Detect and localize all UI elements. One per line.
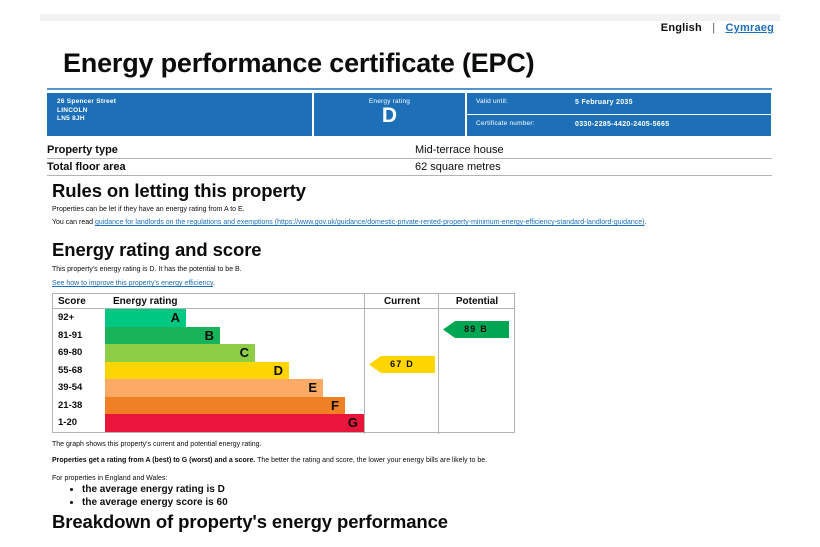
property-type-label: Property type (47, 144, 118, 156)
band-bar: F (105, 397, 345, 415)
rating-band-g: 1-20G (53, 414, 364, 432)
table-row: Property type Mid-terrace house (47, 142, 772, 159)
language-welsh-link[interactable]: Cymraeg (726, 22, 774, 34)
average-stats-list: the average energy rating is Dthe averag… (68, 483, 228, 509)
band-bar: D (105, 362, 289, 380)
rating-band-a: 92+A (53, 309, 364, 327)
epc-rating-chart: Score Energy rating Current Potential 92… (52, 293, 515, 433)
graph-description: The graph shows this property's current … (52, 440, 262, 450)
rating-band-d: 55-68D (53, 362, 364, 380)
address-line-2: LINCOLN (57, 107, 312, 116)
energy-rating-value: D (314, 105, 465, 127)
band-score-range: 39-54 (53, 379, 105, 397)
potential-rating-arrow: 89 B (443, 321, 509, 338)
valid-until-row: Valid until: 5 February 2035 (467, 93, 771, 114)
title-divider (47, 88, 772, 90)
certificate-number-value: 0330-2285-4420-2405-5665 (575, 121, 669, 128)
improve-efficiency-paragraph: See how to improve this property's energ… (52, 279, 215, 289)
current-rating-arrow: 67 D (369, 356, 435, 373)
language-switcher: English | Cymraeg (661, 22, 774, 34)
band-bar: C (105, 344, 255, 362)
improve-suffix: . (213, 280, 215, 287)
language-separator: | (705, 22, 722, 34)
band-score-range: 92+ (53, 309, 105, 327)
column-header-current: Current (366, 296, 438, 307)
certificate-meta: Valid until: 5 February 2035 Certificate… (467, 93, 771, 136)
energy-rating-paragraph: This property's energy rating is D. It h… (52, 265, 242, 275)
rules-guidance-paragraph: You can read guidance for landlords on t… (52, 218, 774, 228)
rules-heading: Rules on letting this property (52, 180, 306, 202)
rating-explanation-bold: Properties get a rating from A (best) to… (52, 457, 255, 464)
chart-column-divider (438, 294, 439, 434)
table-row: Total floor area 62 square metres (47, 159, 772, 176)
energy-rating-heading: Energy rating and score (52, 239, 261, 261)
rating-band-f: 21-38F (53, 397, 364, 415)
property-type-value: Mid-terrace house (415, 144, 504, 156)
certificate-number-label: Certificate number: (476, 120, 566, 128)
rating-explanation: Properties get a rating from A (best) to… (52, 456, 782, 466)
address-line-1: 26 Spencer Street (57, 98, 312, 107)
column-header-energy-rating: Energy rating (113, 296, 177, 307)
band-bar: A (105, 309, 186, 327)
band-bar: G (105, 414, 364, 432)
improve-efficiency-link[interactable]: See how to improve this property's energ… (52, 280, 213, 287)
list-item: the average energy score is 60 (82, 496, 228, 509)
certificate-summary-banner: 26 Spencer Street LINCOLN LN5 8JH Energy… (47, 93, 771, 136)
property-address: 26 Spencer Street LINCOLN LN5 8JH (47, 93, 312, 136)
chart-header: Score Energy rating Current Potential (53, 294, 514, 309)
property-facts-table: Property type Mid-terrace house Total fl… (47, 142, 772, 176)
top-grey-bar (40, 14, 780, 21)
landlord-guidance-link[interactable]: guidance for landlords on the regulation… (95, 219, 645, 226)
band-bar: B (105, 327, 220, 345)
band-bar: E (105, 379, 323, 397)
address-line-3: LN5 8JH (57, 115, 312, 124)
total-floor-area-label: Total floor area (47, 161, 126, 173)
epc-page: English | Cymraeg Energy performance cer… (0, 0, 820, 547)
valid-until-value: 5 February 2035 (575, 99, 633, 106)
rules-read-suffix: . (644, 219, 646, 226)
rating-band-b: 81-91B (53, 327, 364, 345)
breakdown-heading: Breakdown of property's energy performan… (52, 511, 448, 533)
rating-band-c: 69-80C (53, 344, 364, 362)
rules-paragraph: Properties can be let if they have an en… (52, 205, 245, 215)
band-score-range: 55-68 (53, 362, 105, 380)
rules-read-prefix: You can read (52, 219, 95, 226)
energy-rating-box: Energy rating D (314, 93, 465, 136)
column-header-score: Score (58, 296, 86, 307)
rating-bands: 92+A81-91B69-80C55-68D39-54E21-38F1-20G (53, 309, 364, 432)
chart-column-divider (364, 294, 365, 434)
column-header-potential: Potential (440, 296, 514, 307)
band-score-range: 81-91 (53, 327, 105, 345)
page-title: Energy performance certificate (EPC) (63, 48, 534, 79)
language-english: English (661, 22, 702, 34)
certificate-number-row: Certificate number: 0330-2285-4420-2405-… (467, 115, 771, 136)
rating-explanation-rest: The better the rating and score, the low… (255, 457, 487, 464)
valid-until-label: Valid until: (476, 98, 566, 106)
band-score-range: 69-80 (53, 344, 105, 362)
band-score-range: 21-38 (53, 397, 105, 415)
total-floor-area-value: 62 square metres (415, 161, 501, 173)
rating-band-e: 39-54E (53, 379, 364, 397)
band-score-range: 1-20 (53, 414, 105, 432)
list-item: the average energy rating is D (82, 483, 228, 496)
